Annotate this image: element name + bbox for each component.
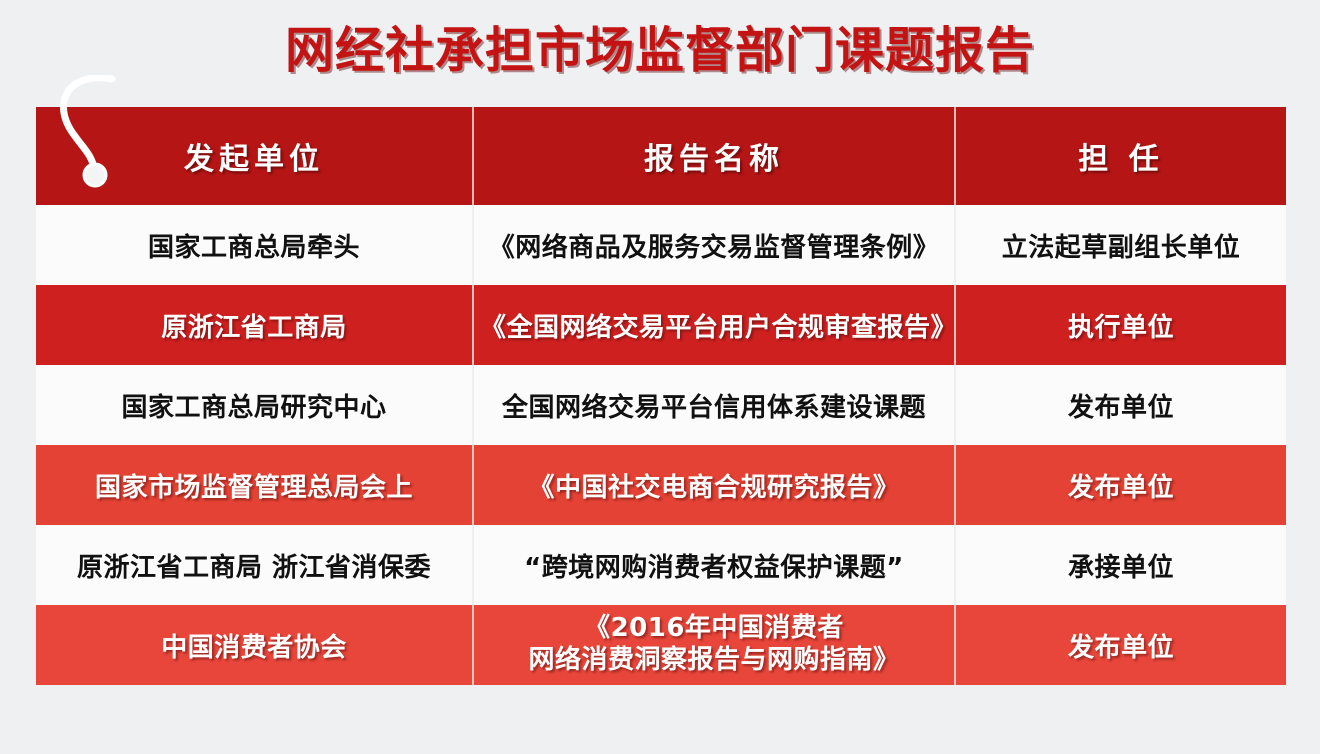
cell-report-name: 《全国网络交易平台用户合规审查报告》 — [473, 285, 955, 365]
cell-initiator: 国家工商总局研究中心 — [36, 365, 473, 445]
column-header-role: 担 任 — [955, 107, 1286, 205]
cell-report-name: 全国网络交易平台信用体系建设课题 — [473, 365, 955, 445]
table-row: 中国消费者协会 《2016年中国消费者 网络消费洞察报告与网购指南》 发布单位 — [36, 605, 1286, 685]
page-title: 网经社承担市场监督部门课题报告 — [0, 22, 1320, 80]
cell-report-name: 《网络商品及服务交易监督管理条例》 — [473, 205, 955, 285]
cell-report-name: “跨境网购消费者权益保护课题” — [473, 525, 955, 605]
cell-initiator: 国家工商总局牵头 — [36, 205, 473, 285]
table-header-row: 发起单位 报告名称 担 任 — [36, 107, 1286, 205]
table-row: 原浙江省工商局 浙江省消保委 “跨境网购消费者权益保护课题” 承接单位 — [36, 525, 1286, 605]
cell-role: 执行单位 — [955, 285, 1286, 365]
cell-report-name-line1: 《2016年中国消费者 — [480, 613, 948, 645]
cell-initiator: 原浙江省工商局 — [36, 285, 473, 365]
page-title-text: 网经社承担市场监督部门课题报告 — [285, 22, 1035, 80]
cell-initiator: 国家市场监督管理总局会上 — [36, 445, 473, 525]
cell-role: 发布单位 — [955, 365, 1286, 445]
table-row: 国家市场监督管理总局会上 《中国社交电商合规研究报告》 发布单位 — [36, 445, 1286, 525]
column-header-initiator: 发起单位 — [36, 107, 473, 205]
cell-initiator: 中国消费者协会 — [36, 605, 473, 685]
table-row: 原浙江省工商局 《全国网络交易平台用户合规审查报告》 执行单位 — [36, 285, 1286, 365]
cell-report-name: 《中国社交电商合规研究报告》 — [473, 445, 955, 525]
cell-role: 立法起草副组长单位 — [955, 205, 1286, 285]
cell-role: 承接单位 — [955, 525, 1286, 605]
report-table-container: WJC 网经社 100EC.CN WJC 网经社 100EC.CN 电 子 商 … — [36, 107, 1286, 687]
column-header-report-name: 报告名称 — [473, 107, 955, 205]
cell-report-name: 《2016年中国消费者 网络消费洞察报告与网购指南》 — [473, 605, 955, 685]
report-table: 发起单位 报告名称 担 任 国家工商总局牵头 《网络商品及服务交易监督管理条例》… — [36, 107, 1286, 685]
poster-page: 网经社承担市场监督部门课题报告 WJC 网经社 100EC.CN WJC 网经社… — [0, 0, 1320, 754]
cell-initiator: 原浙江省工商局 浙江省消保委 — [36, 525, 473, 605]
cell-role: 发布单位 — [955, 605, 1286, 685]
cell-role: 发布单位 — [955, 445, 1286, 525]
table-row: 国家工商总局研究中心 全国网络交易平台信用体系建设课题 发布单位 — [36, 365, 1286, 445]
cell-report-name-line2: 网络消费洞察报告与网购指南》 — [480, 645, 948, 677]
table-row: 国家工商总局牵头 《网络商品及服务交易监督管理条例》 立法起草副组长单位 — [36, 205, 1286, 285]
